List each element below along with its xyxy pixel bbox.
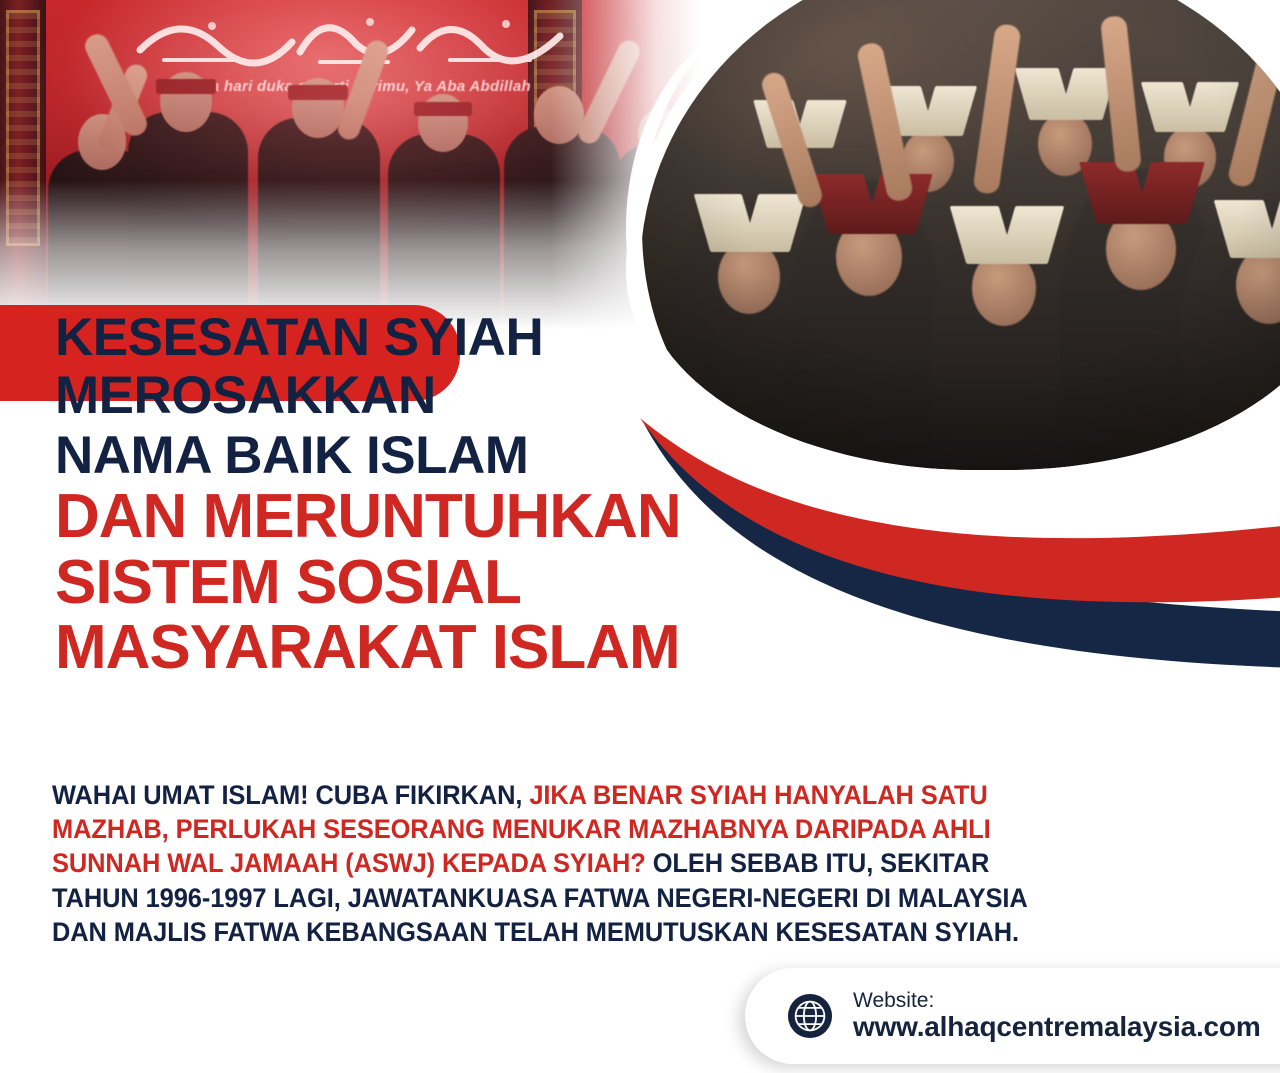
website-footer-bar[interactable]: Website: www.alhaqcentremalaysia.com: [745, 968, 1280, 1064]
headline-line-3: NAMA BAIK ISLAM: [55, 430, 895, 482]
headline-keyword: KESESATAN: [55, 308, 370, 367]
body-paragraph: WAHAI UMAT ISLAM! CUBA FIKIRKAN, JIKA BE…: [52, 778, 1070, 949]
website-text: Website: www.alhaqcentremalaysia.com: [853, 990, 1261, 1042]
headline-line-1-rest: SYIAH: [370, 308, 544, 367]
headline-line-2: MEROSAKKAN: [55, 370, 895, 422]
globe-icon: [787, 993, 833, 1039]
headline-line-4: DAN MERUNTUHKAN: [55, 486, 895, 547]
website-label: Website:: [853, 990, 1261, 1012]
poster: Tiada hari duka seperti harimu, Ya Aba A…: [0, 0, 1280, 1073]
headline: KESESATAN SYIAH MEROSAKKAN NAMA BAIK ISL…: [55, 300, 895, 679]
photo-left-rally: Tiada hari duka seperti harimu, Ya Aba A…: [0, 0, 700, 330]
headline-line-5: SISTEM SOSIAL: [55, 552, 895, 613]
body-segment-1: WAHAI UMAT ISLAM! CUBA FIKIRKAN,: [52, 780, 529, 810]
website-url[interactable]: www.alhaqcentremalaysia.com: [853, 1012, 1261, 1042]
headline-line-1: KESESATAN SYIAH: [55, 300, 895, 364]
headline-line-6: MASYARAKAT ISLAM: [55, 617, 895, 678]
